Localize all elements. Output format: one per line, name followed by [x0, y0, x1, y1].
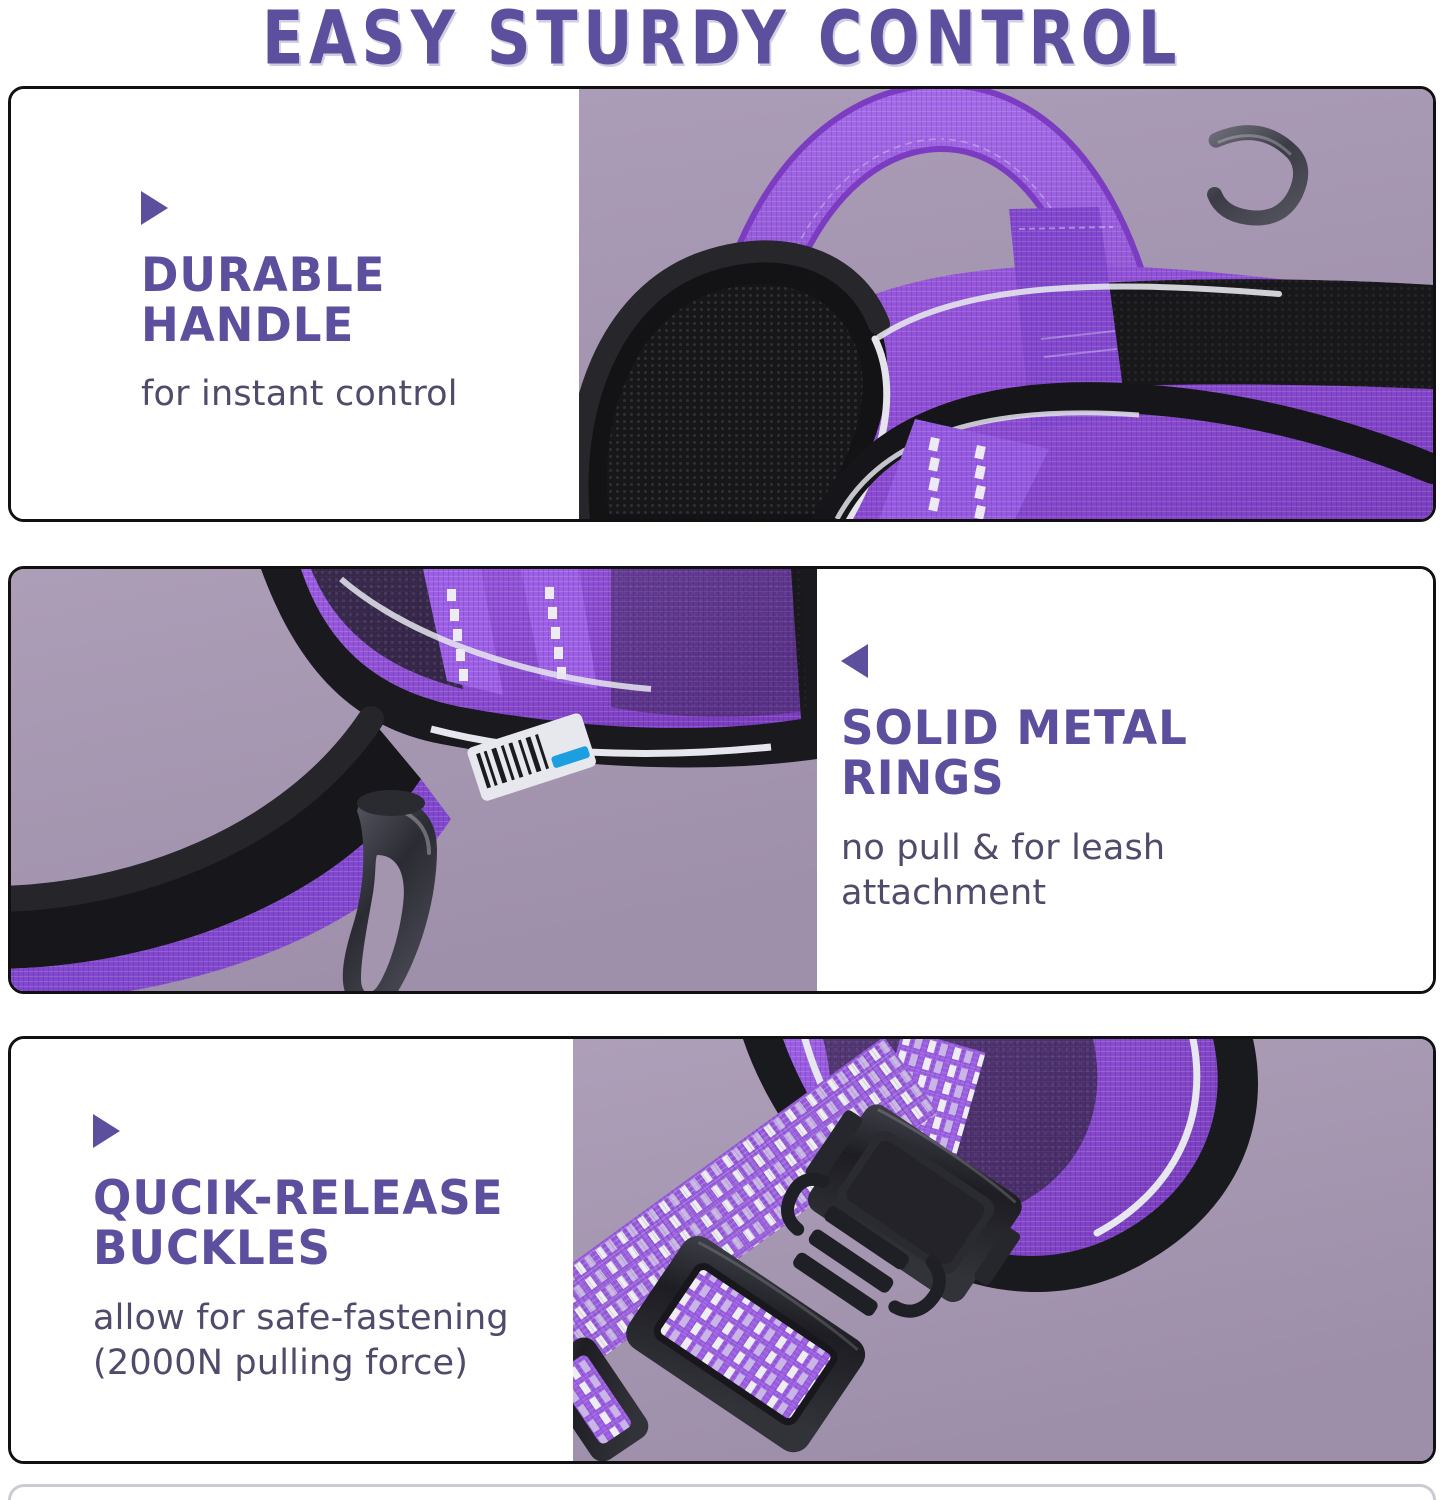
page-title-bar: EASY STURDY CONTROL [0, 0, 1444, 78]
panel-2-text-block: SOLID METAL RINGS no pull & for leash at… [817, 569, 1433, 991]
panel-2-headline: SOLID METAL RINGS [841, 704, 1409, 804]
panel-3-text-block: QUCIK-RELEASE BUCKLES allow for safe-fas… [11, 1039, 573, 1461]
panel-1-subline: for instant control [141, 372, 579, 417]
panel-3-headline: QUCIK-RELEASE BUCKLES [93, 1174, 554, 1274]
triangle-right-icon [141, 191, 168, 225]
feature-panel-quick-release-buckles: QUCIK-RELEASE BUCKLES allow for safe-fas… [8, 1036, 1436, 1464]
panel-2-photo [11, 569, 817, 991]
infographic-page: EASY STURDY CONTROL DURABLE HANDLE for i… [0, 0, 1444, 1500]
panel-3-photo [573, 1039, 1433, 1461]
metal-ring-illustration [11, 569, 817, 991]
feature-panel-durable-handle: DURABLE HANDLE for instant control [8, 86, 1436, 522]
panel-1-text-block: DURABLE HANDLE for instant control [11, 89, 579, 519]
panel-3-subline: allow for safe-fastening (2000N pulling … [93, 1296, 573, 1386]
triangle-left-icon [841, 644, 868, 678]
quick-release-buckle-illustration [573, 1039, 1433, 1461]
panel-2-subline: no pull & for leash attachment [841, 826, 1433, 916]
page-title: EASY STURDY CONTROL [262, 2, 1182, 76]
triangle-right-icon [93, 1114, 120, 1148]
durable-handle-illustration [579, 89, 1433, 519]
panel-1-photo [579, 89, 1433, 519]
feature-panel-solid-metal-rings: SOLID METAL RINGS no pull & for leash at… [8, 566, 1436, 994]
next-panel-peek [8, 1484, 1436, 1500]
panel-1-headline: DURABLE HANDLE [141, 251, 561, 351]
